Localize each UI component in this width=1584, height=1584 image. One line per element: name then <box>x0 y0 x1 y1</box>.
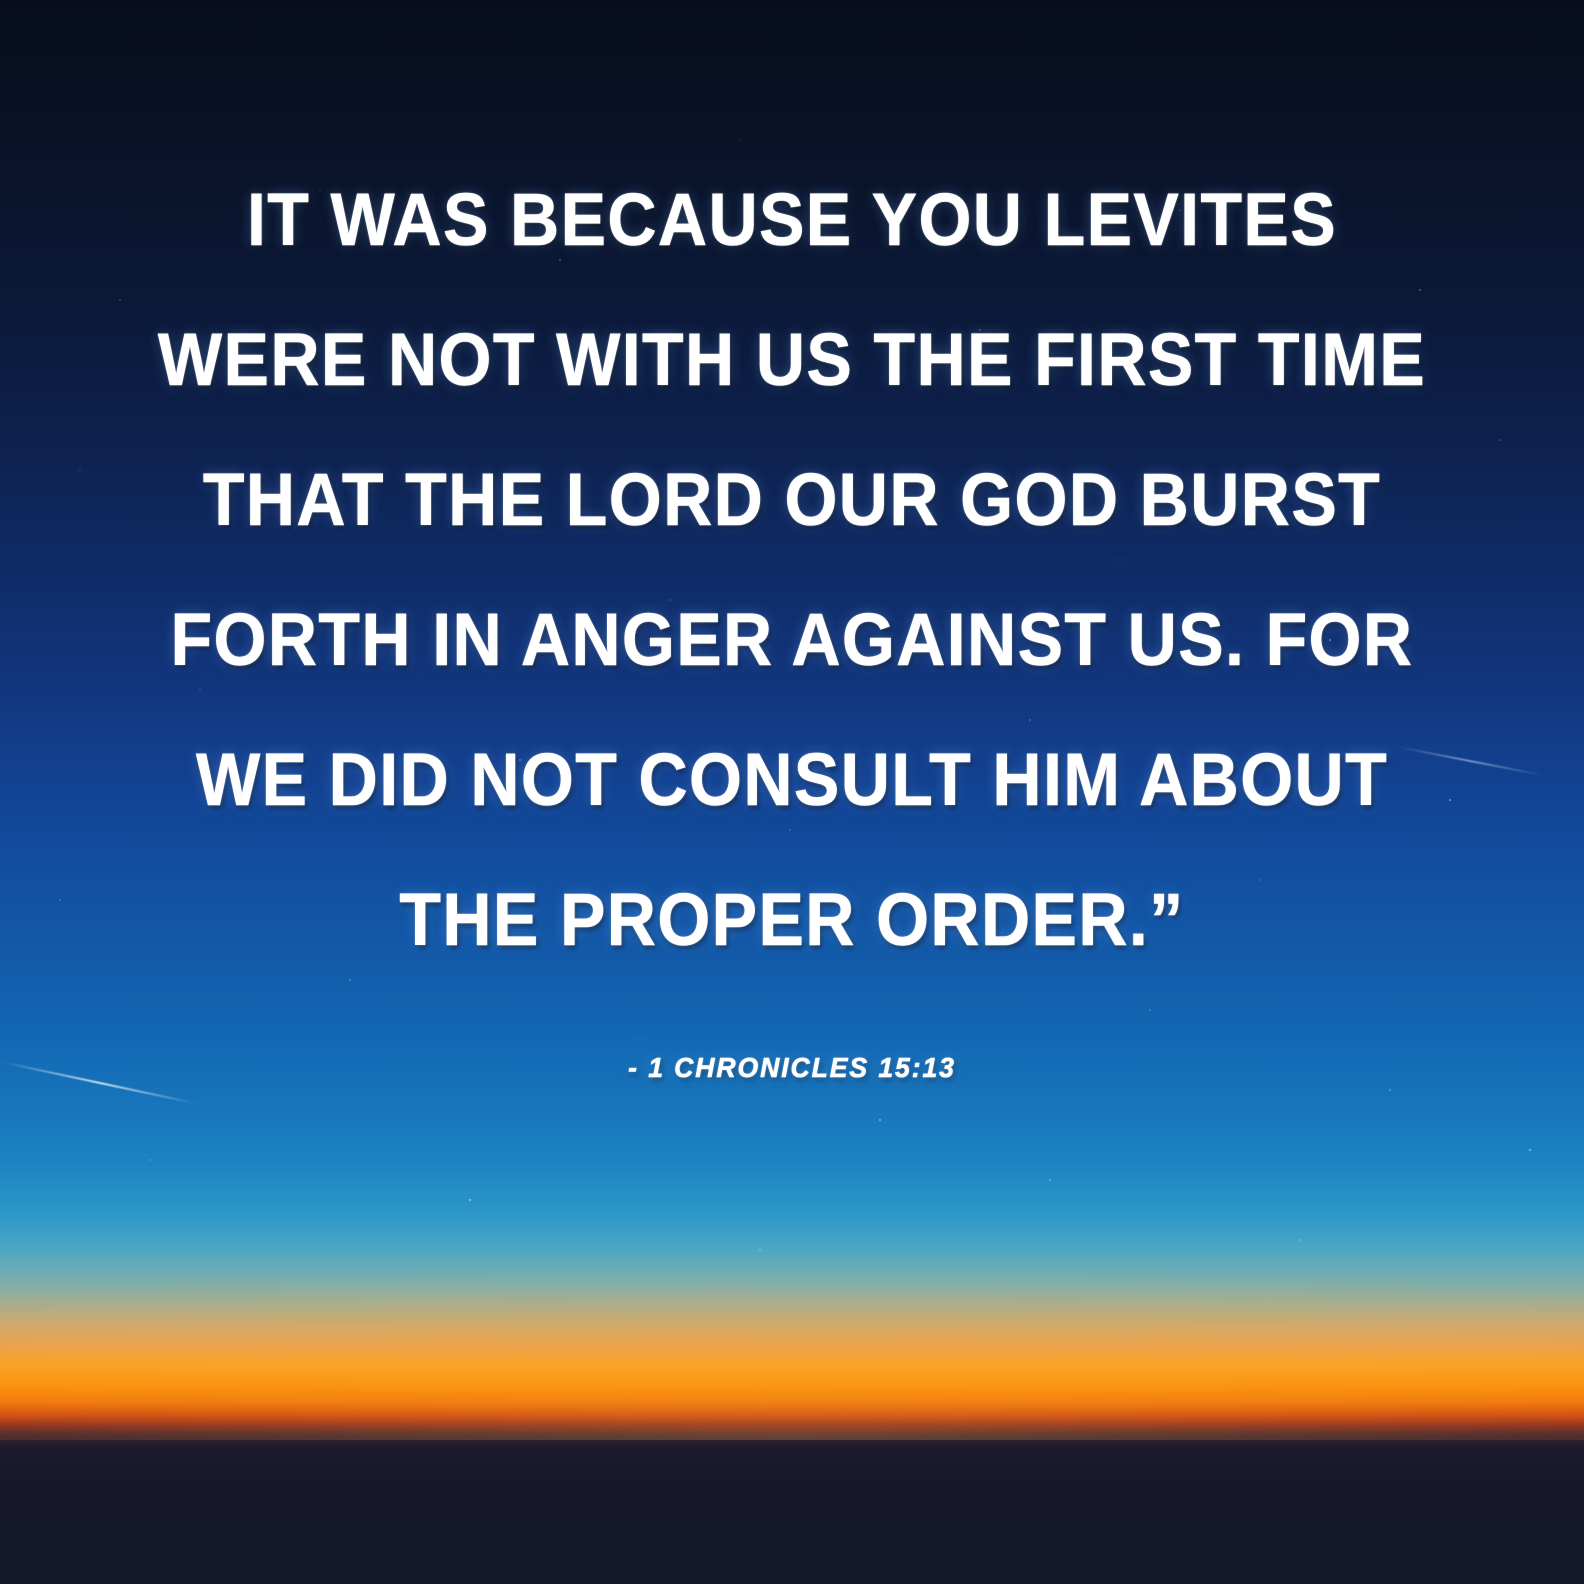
verse-line: THE PROPER ORDER.” <box>122 850 1462 990</box>
verse-line: WERE NOT WITH US THE FIRST TIME <box>122 290 1462 430</box>
verse-line: FORTH IN ANGER AGAINST US. FOR <box>122 570 1462 710</box>
verse-attribution: - 1 CHRONICLES 15:13 <box>40 1022 1545 1114</box>
verse-text-block: IT WAS BECAUSE YOU LEVITES WERE NOT WITH… <box>0 150 1584 990</box>
verse-image-canvas: IT WAS BECAUSE YOU LEVITES WERE NOT WITH… <box>0 0 1584 1584</box>
verse-line: THAT THE LORD OUR GOD BURST <box>122 430 1462 570</box>
verse-line: IT WAS BECAUSE YOU LEVITES <box>122 150 1462 290</box>
verse-line: WE DID NOT CONSULT HIM ABOUT <box>122 710 1462 850</box>
